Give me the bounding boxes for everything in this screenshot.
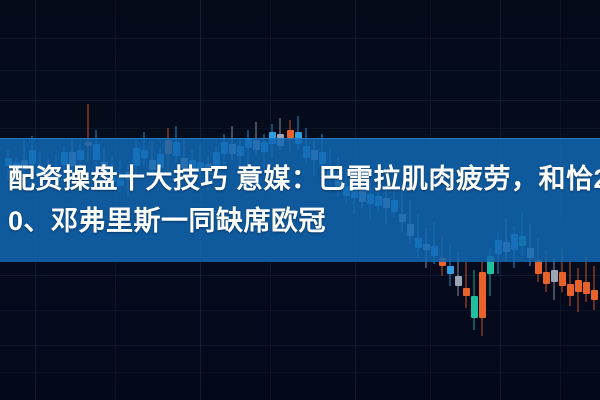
candlestick [479,262,486,336]
candlestick [471,270,478,330]
candlestick [575,268,582,312]
candlestick-body [551,270,558,282]
candlestick-body [575,280,582,292]
candlestick-body [447,266,454,274]
candlestick-body [567,284,574,296]
candlestick-body [455,276,462,286]
candlestick-wick [466,262,467,308]
candlestick-wick [570,260,571,306]
candlestick-wick [586,256,587,302]
news-thumbnail-image: 配资操盘十大技巧 意媒：巴雷拉肌肉疲劳，和恰2 0、邓弗里斯一同缺席欧冠 [0,0,600,400]
candlestick-body [591,290,598,300]
candlestick [567,260,574,306]
candlestick-body [543,272,550,284]
candlestick-body [559,272,566,286]
candlestick-body [471,296,478,318]
candlestick-body [463,288,470,296]
candlestick [463,262,470,308]
headline-line-2: 0、邓弗里斯一同缺席欧冠 [8,201,326,241]
candlestick-body [287,130,294,138]
candlestick [583,256,590,302]
candlestick-body [583,282,590,294]
headline-text-block: 配资操盘十大技巧 意媒：巴雷拉肌肉疲劳，和恰2 0、邓弗里斯一同缺席欧冠 [0,138,600,262]
candlestick-wick [594,266,595,310]
candlestick [591,266,598,310]
candlestick [551,258,558,300]
candlestick-body [479,272,486,318]
headline-line-1: 配资操盘十大技巧 意媒：巴雷拉肌肉疲劳，和恰2 [8,159,600,199]
candlestick-body [535,260,542,274]
